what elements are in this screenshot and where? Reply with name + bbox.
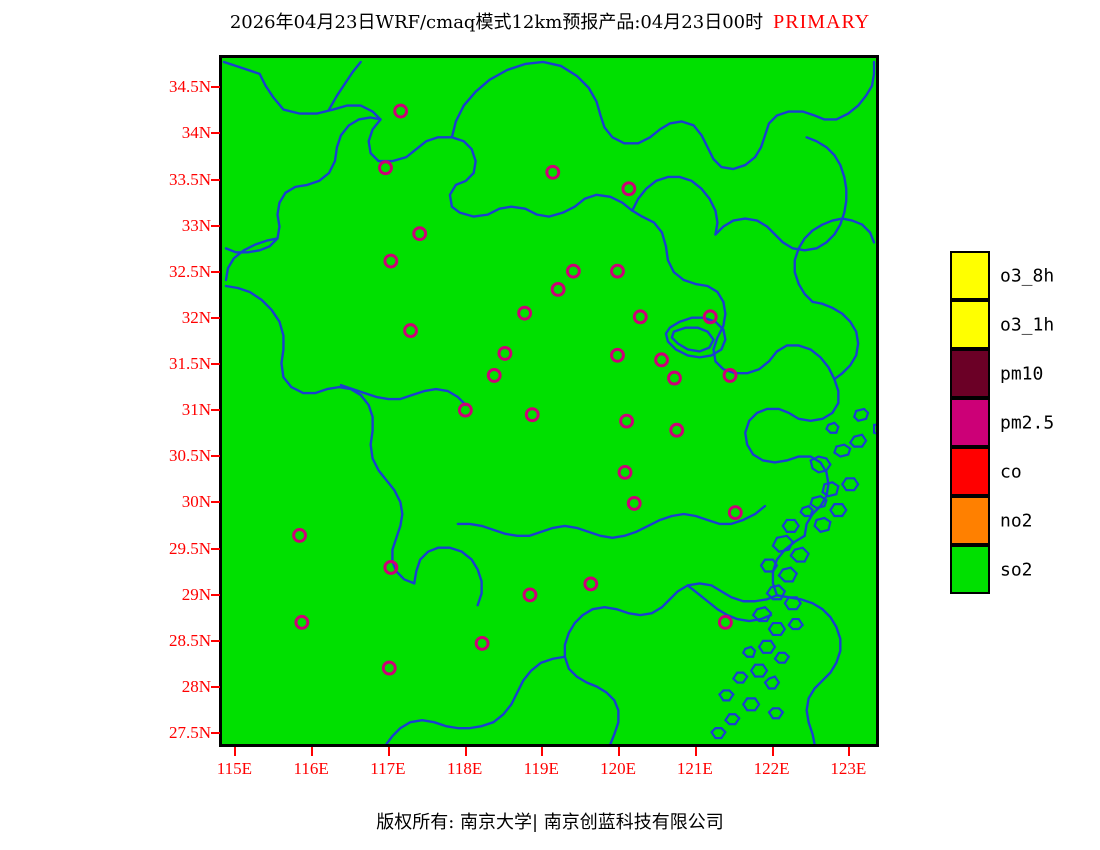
station-marker <box>380 162 392 174</box>
station-marker <box>499 347 511 359</box>
y-axis-tick-label: 31N <box>182 400 211 420</box>
y-axis-tick-label: 34N <box>182 123 211 143</box>
station-marker <box>476 637 488 649</box>
station-marker <box>414 228 426 240</box>
station-marker <box>612 265 624 277</box>
y-axis-tick-label: 30.5N <box>169 446 211 466</box>
station-marker <box>395 105 407 117</box>
y-axis-tick-mark <box>211 363 220 365</box>
x-axis-tick-label: 119E <box>524 759 559 779</box>
x-axis-tick-mark <box>772 747 774 756</box>
station-marker <box>623 183 635 195</box>
y-axis-tick-mark <box>211 548 220 550</box>
station-marker <box>567 265 579 277</box>
y-axis-tick-mark <box>211 640 220 642</box>
y-axis-tick-label: 33.5N <box>169 170 211 190</box>
x-axis-tick-label: 118E <box>447 759 482 779</box>
title-main-text: 2026年04月23日WRF/cmaq模式12km预报产品:04月23日00时 <box>230 12 763 33</box>
y-axis-tick-label: 34.5N <box>169 77 211 97</box>
station-marker <box>634 311 646 323</box>
station-marker <box>526 409 538 421</box>
x-axis-tick-label: 116E <box>293 759 328 779</box>
legend-color-swatch <box>950 447 990 496</box>
station-marker <box>621 415 633 427</box>
station-marker <box>669 372 681 384</box>
map-geometry <box>222 58 876 744</box>
legend-label: pm2.5 <box>1000 412 1054 433</box>
x-axis-tick-mark <box>618 747 620 756</box>
y-axis-tick-mark <box>211 501 220 503</box>
station-marker <box>547 166 559 178</box>
station-marker <box>488 369 500 381</box>
x-axis-tick-label: 117E <box>370 759 405 779</box>
legend-label: pm10 <box>1000 363 1043 384</box>
y-axis-labels: 34.5N34N33.5N33N32.5N32N31.5N31N30.5N30N… <box>135 55 211 747</box>
y-axis-tick-mark <box>211 86 220 88</box>
station-marker <box>385 255 397 267</box>
y-axis-tick-label: 27.5N <box>169 723 211 743</box>
chart-title: 2026年04月23日WRF/cmaq模式12km预报产品:04月23日00时P… <box>0 8 1100 34</box>
station-marker <box>296 616 308 628</box>
x-axis-tick-label: 115E <box>217 759 252 779</box>
title-primary-flag: PRIMARY <box>763 11 870 33</box>
y-axis-tick-label: 32N <box>182 308 211 328</box>
x-axis-tick-label: 123E <box>830 759 866 779</box>
station-marker <box>585 578 597 590</box>
station-marker <box>405 325 417 337</box>
station-marker <box>612 349 624 361</box>
station-marker <box>294 529 306 541</box>
y-axis-tick-label: 33N <box>182 216 211 236</box>
x-axis-tick-mark <box>541 747 543 756</box>
legend-label: co <box>1000 461 1022 482</box>
station-marker <box>628 497 640 509</box>
station-marker <box>552 283 564 295</box>
station-marker <box>524 589 536 601</box>
x-axis-tick-mark <box>465 747 467 756</box>
y-axis-tick-mark <box>211 271 220 273</box>
x-axis-labels: 115E116E117E118E119E120E121E122E123E <box>219 747 879 787</box>
y-axis-tick-label: 28N <box>182 677 211 697</box>
y-axis-tick-label: 32.5N <box>169 262 211 282</box>
legend-color-swatch <box>950 300 990 349</box>
map-plot-area[interactable] <box>219 55 879 747</box>
station-marker <box>729 507 741 519</box>
station-marker <box>619 466 631 478</box>
y-axis-tick-mark <box>211 455 220 457</box>
station-marker <box>671 424 683 436</box>
x-axis-tick-label: 122E <box>754 759 790 779</box>
monitoring-stations <box>294 105 742 674</box>
y-axis-tick-mark <box>211 225 220 227</box>
legend-label: o3_8h <box>1000 265 1054 286</box>
x-axis-tick-mark <box>311 747 313 756</box>
y-axis-tick-mark <box>211 594 220 596</box>
y-axis-tick-mark <box>211 317 220 319</box>
y-axis-tick-mark <box>211 686 220 688</box>
x-axis-tick-label: 120E <box>600 759 636 779</box>
y-axis-tick-mark <box>211 409 220 411</box>
y-axis-tick-label: 30N <box>182 492 211 512</box>
legend-label: no2 <box>1000 510 1033 531</box>
x-axis-tick-mark <box>388 747 390 756</box>
x-axis-tick-label: 121E <box>677 759 713 779</box>
station-marker <box>656 354 668 366</box>
station-marker <box>519 307 531 319</box>
legend-label: so2 <box>1000 559 1033 580</box>
legend-label: o3_1h <box>1000 314 1054 335</box>
y-axis-tick-label: 28.5N <box>169 631 211 651</box>
legend-color-swatch <box>950 545 990 594</box>
y-axis-tick-label: 31.5N <box>169 354 211 374</box>
y-axis-tick-mark <box>211 732 220 734</box>
y-axis-tick-label: 29N <box>182 585 211 605</box>
y-axis-tick-mark <box>211 179 220 181</box>
legend-color-swatch <box>950 496 990 545</box>
x-axis-tick-mark <box>695 747 697 756</box>
station-marker <box>719 616 731 628</box>
x-axis-tick-mark <box>234 747 236 756</box>
x-axis-tick-mark <box>848 747 850 756</box>
province-boundaries <box>224 62 874 744</box>
legend-color-swatch <box>950 251 990 300</box>
legend-color-swatch <box>950 398 990 447</box>
station-marker <box>383 662 395 674</box>
copyright-footer: 版权所有: 南京大学| 南京创蓝科技有限公司 <box>0 808 1100 834</box>
y-axis-tick-label: 29.5N <box>169 539 211 559</box>
legend-color-swatch <box>950 349 990 398</box>
y-axis-tick-mark <box>211 132 220 134</box>
